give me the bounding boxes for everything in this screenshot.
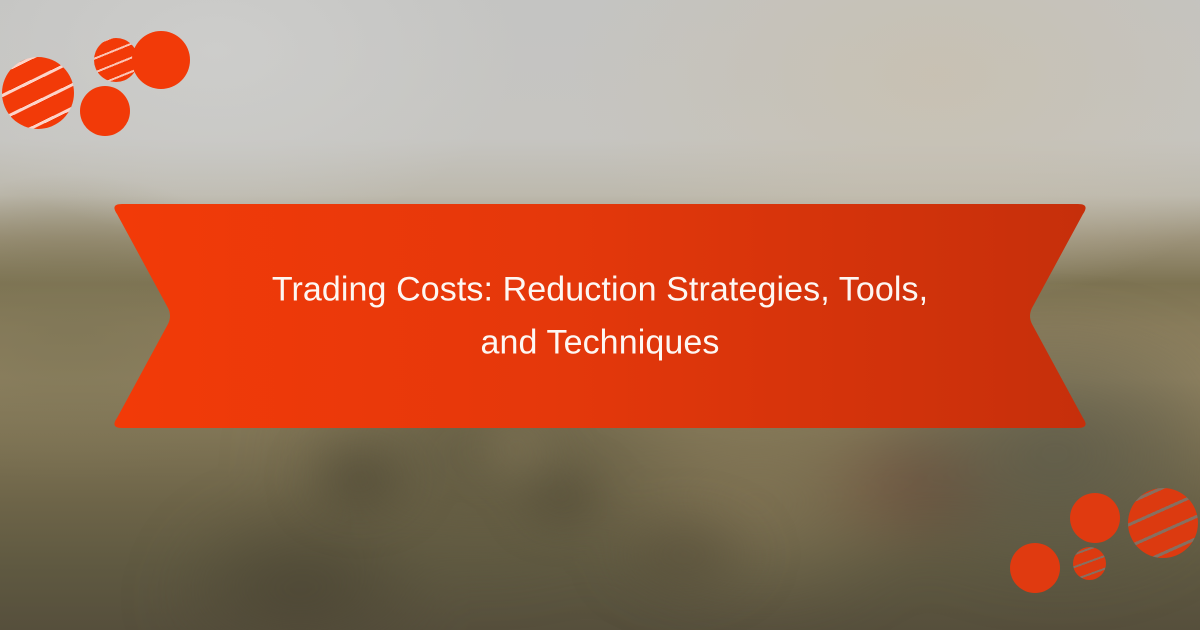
deco-circle-medium-plain — [1070, 493, 1120, 543]
ribbon-banner: Trading Costs: Reduction Strategies, Too… — [110, 196, 1090, 436]
deco-circle-large-striped — [2, 57, 74, 129]
deco-circle-small-plain — [80, 86, 130, 136]
share-card: Trading Costs: Reduction Strategies, Too… — [0, 0, 1200, 630]
deco-circle-medium-plain — [132, 31, 190, 89]
deco-circle-large-striped — [1128, 488, 1198, 558]
deco-circle-small-plain — [1010, 543, 1060, 593]
deco-circle-small-striped — [1073, 547, 1106, 580]
banner-title: Trading Costs: Reduction Strategies, Too… — [230, 263, 970, 368]
